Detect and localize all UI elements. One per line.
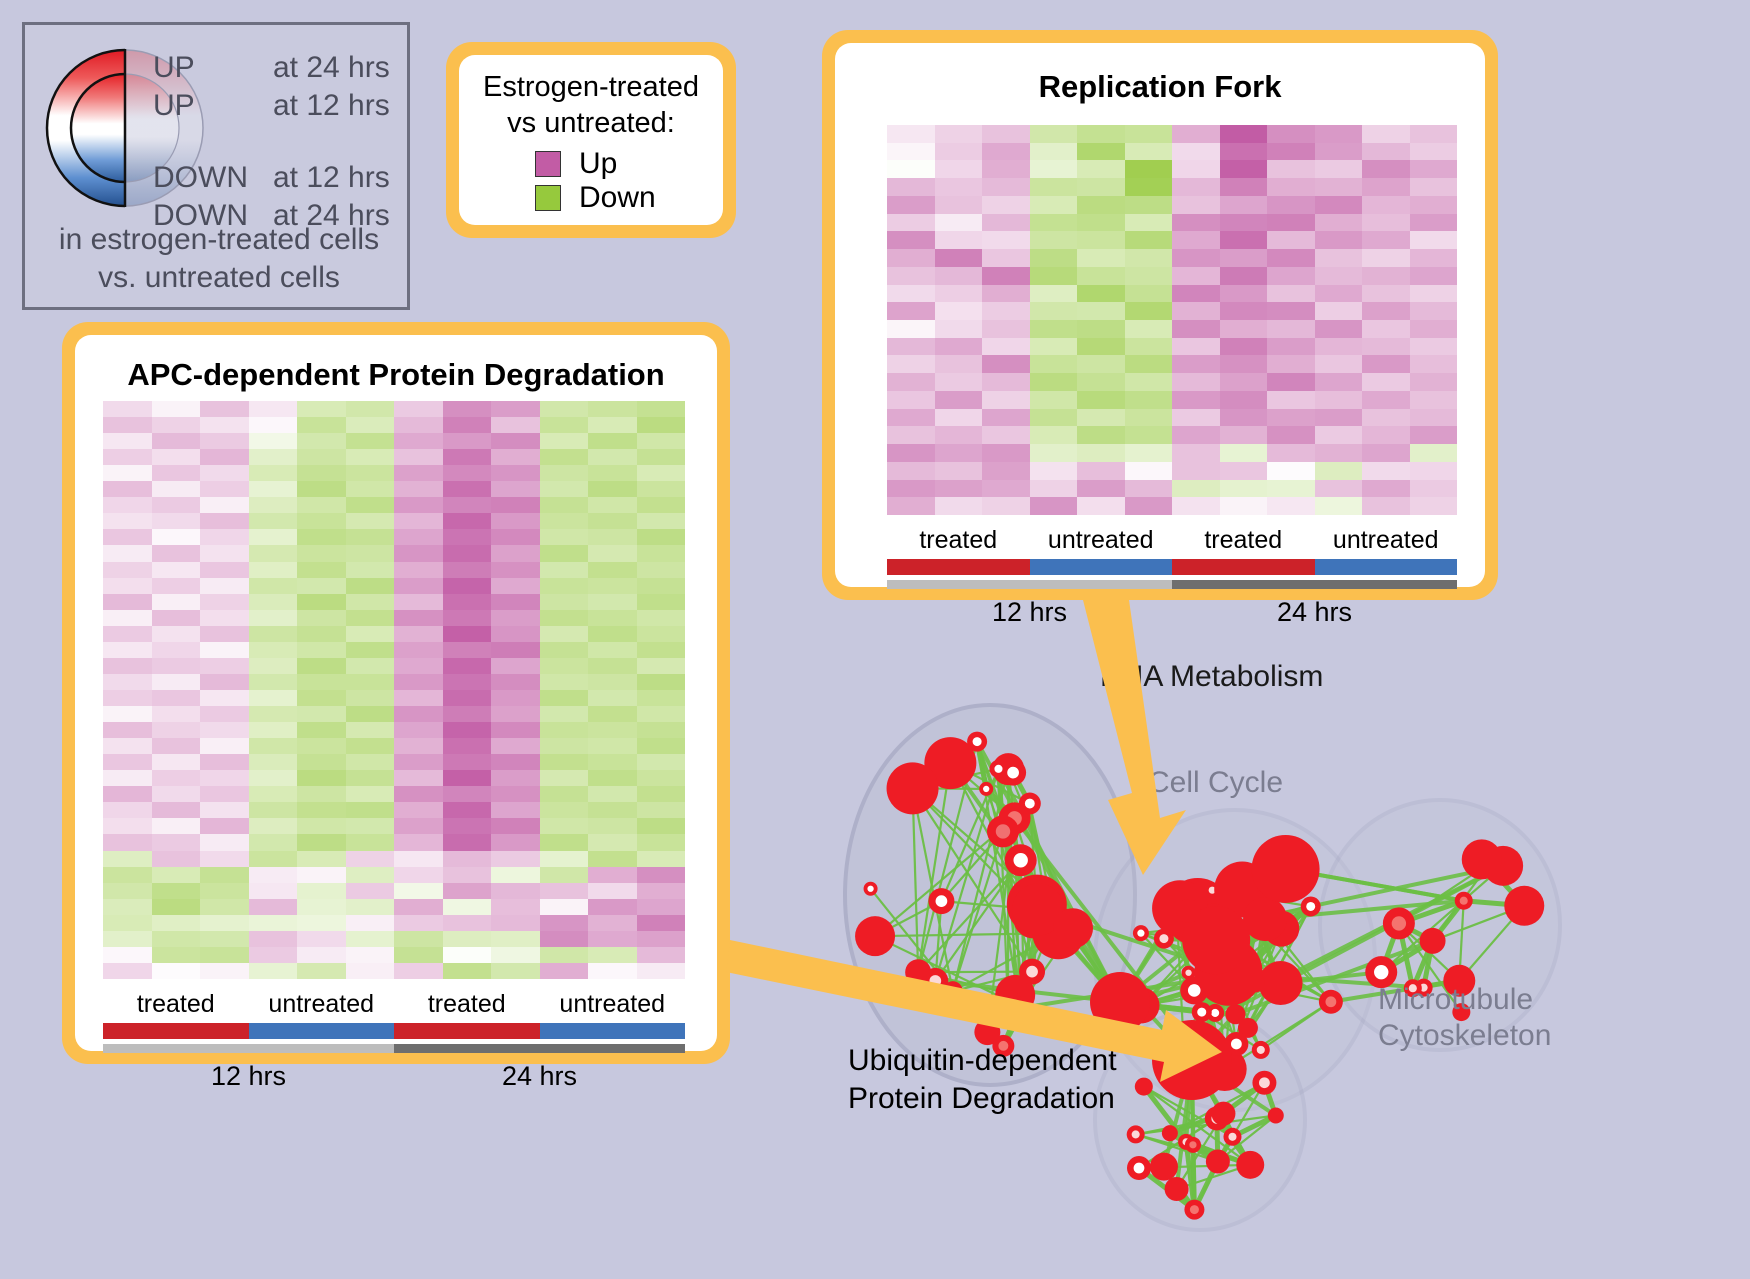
heatmap-cell [297,529,346,545]
heatmap-cell [1220,409,1268,427]
heatmap-cell [103,562,152,578]
heatmap-cell [1125,373,1173,391]
heatmap-cell [1220,480,1268,498]
heatmap-cell [588,481,637,497]
heatmap-cell [588,834,637,850]
heatmap-cell [588,786,637,802]
heatmap-cell [152,851,201,867]
heatmap-cell [152,867,201,883]
network-node-core [1259,1077,1270,1088]
timepoint-label: 12 hrs [887,589,1172,631]
heatmap-cell [346,626,395,642]
heatmap-cell [103,513,152,529]
heatmap-cell [1125,231,1173,249]
heatmap-cell [1220,391,1268,409]
heatmap-cell [443,706,492,722]
heatmap-cell [443,722,492,738]
heatmap-cell [200,497,249,513]
timepoint-label: 24 hrs [1172,589,1457,631]
heatmap-cell [346,417,395,433]
heatmap-cell [103,931,152,947]
heatmap-cell [1315,320,1363,338]
heatmap-cell [1315,444,1363,462]
heatmap-cell [1410,480,1458,498]
heatmap-cell [346,401,395,417]
heatmap-cell [637,899,686,915]
network-node [887,762,939,814]
heatmap-cell [200,899,249,915]
heatmap-cell [443,690,492,706]
heatmap-cell [443,931,492,947]
heatmap-cell [103,529,152,545]
heatmap-cell [1220,338,1268,356]
heatmap-cell [394,818,443,834]
heatmap-cell [1077,480,1125,498]
heatmap-cell [346,642,395,658]
heatmap-cell [200,658,249,674]
heatmap-cell [1410,302,1458,320]
heatmap-cell [1315,338,1363,356]
heatmap-cell [1077,444,1125,462]
heatmap-cell [1220,231,1268,249]
heatmap-cell [637,706,686,722]
timepoint-bar-segment [1172,580,1457,589]
heatmap-cell [346,610,395,626]
heatmap-cell [588,449,637,465]
heatmap-cell [1315,196,1363,214]
heatmap-cell [394,770,443,786]
heatmap-cell [1030,320,1078,338]
heatmap-cell [1362,160,1410,178]
heatmap-cell [491,545,540,561]
heatmap-cell [249,626,298,642]
heatmap-cell [491,562,540,578]
heatmap-cell [588,947,637,963]
heatmap-cell [588,818,637,834]
heatmap-cell [540,433,589,449]
heatmap-cell [1172,373,1220,391]
heatmap-cell [200,529,249,545]
heatmap-cell [443,497,492,513]
network-node [1252,835,1320,903]
heatmap-cell [1125,196,1173,214]
heatmap-cell [394,610,443,626]
heatmap-cell [394,867,443,883]
heatmap-cell [1410,409,1458,427]
heatmap-cell [152,770,201,786]
heatmap-cell [152,626,201,642]
heatmap-cell [540,947,589,963]
heatmap-cell [588,401,637,417]
network-node [1462,839,1502,879]
heatmap-cell [1077,196,1125,214]
network-node-core [983,786,989,792]
heatmap-cell [1030,125,1078,143]
heatmap-cell [1172,231,1220,249]
cluster-label-ubiquitin-protein-degradation: Ubiquitin-dependent Protein Degradation [848,1042,1117,1118]
heatmap-cell [346,786,395,802]
heatmap-cell [394,802,443,818]
heatmap-cell [394,545,443,561]
heatmap-cell [297,722,346,738]
network-node [1090,972,1150,1032]
heatmap-cell [200,883,249,899]
heatmap-cell [540,722,589,738]
heatmap-cell [1362,480,1410,498]
heatmap-cell [152,931,201,947]
heatmap-cell [1267,214,1315,232]
heatmap-cell [200,642,249,658]
heatmap-cell [1410,160,1458,178]
heatmap-cell [152,513,201,529]
heatmap-cell [394,497,443,513]
heatmap-cell [103,851,152,867]
heatmap-cell [152,883,201,899]
heatmap-cell [1267,320,1315,338]
heatmap-cell [394,947,443,963]
heatmap-cell [935,302,983,320]
heatmap-cell [1172,178,1220,196]
heatmap-cell [1362,178,1410,196]
heatmap-cell [249,674,298,690]
heatmap-cell [540,851,589,867]
heatmap-cell [1125,409,1173,427]
cluster-label-dna-metabolism: DNA Metabolism [1100,660,1323,694]
heatmap-cell [588,851,637,867]
heatmap-cell [1077,391,1125,409]
heatmap-cell [1315,391,1363,409]
heatmap-cell [152,754,201,770]
heatmap-cell [1315,373,1363,391]
heatmap-cell [935,426,983,444]
heatmap-cell [297,433,346,449]
heatmap-cell [588,529,637,545]
heatmap-cell [1267,426,1315,444]
heatmap-cell [887,320,935,338]
heatmap-cell [982,391,1030,409]
heatmap-cell [394,465,443,481]
heatmap-cell [588,417,637,433]
heatmap-cell [540,867,589,883]
heatmap-cell [1362,426,1410,444]
color-key-rows: UP at 24 hrs UP at 12 hrs DOWN at 12 hrs… [153,51,390,237]
heatmap-cell [103,497,152,513]
heatmap-cell [346,594,395,610]
condition-bar-segment [394,1023,540,1039]
heatmap-cell [200,481,249,497]
heatmap-cell [152,610,201,626]
heatmap-cell [491,915,540,931]
heatmap-cell [540,594,589,610]
apc-degradation-title: APC-dependent Protein Degradation [75,335,717,393]
heatmap-cell [491,674,540,690]
heatmap-cell [297,417,346,433]
heatmap-cell [588,963,637,979]
heatmap-cell [887,444,935,462]
heatmap-cell [982,125,1030,143]
heatmap-cell [637,513,686,529]
heatmap-cell [588,754,637,770]
heatmap-cell [1267,143,1315,161]
network-node [1176,899,1200,923]
heatmap-cell [1077,426,1125,444]
heatmap-cell [637,401,686,417]
heatmap-cell [1362,320,1410,338]
heatmap-cell [1172,267,1220,285]
heatmap-cell [1125,426,1173,444]
heatmap-cell [1410,497,1458,515]
heatmap-cell [346,433,395,449]
heatmap-cell [491,770,540,786]
heatmap-cell [297,497,346,513]
heatmap-cell [491,867,540,883]
heatmap-cell [443,867,492,883]
heatmap-cell [1220,160,1268,178]
heatmap-cell [935,143,983,161]
heatmap-cell [152,433,201,449]
heatmap-cell [394,562,443,578]
heatmap-cell [249,513,298,529]
legend-swatch-up-icon [535,151,561,177]
heatmap-cell [1077,125,1125,143]
heatmap-cell [935,497,983,515]
timepoint-labels: 12 hrs 24 hrs [887,589,1457,631]
heatmap-cell [394,626,443,642]
heatmap-cell [982,373,1030,391]
heatmap-cell [346,513,395,529]
heatmap-cell [1030,231,1078,249]
heatmap-cell [249,706,298,722]
heatmap-cell [249,722,298,738]
heatmap-cell [346,449,395,465]
heatmap-cell [200,915,249,931]
network-node-core [1188,984,1201,997]
heatmap-cell [1267,355,1315,373]
heatmap-cell [935,249,983,267]
heatmap-cell [588,433,637,449]
heatmap-cell [1220,125,1268,143]
apc-degradation-panel: APC-dependent Protein Degradation treate… [62,322,730,1064]
heatmap-cell [297,658,346,674]
network-node-core [1007,767,1019,779]
condition-label: untreated [249,987,395,1021]
network-node [1504,886,1544,926]
legend-items: Up Down [459,147,723,215]
heatmap-cell [491,899,540,915]
heatmap-cell [1172,249,1220,267]
heatmap-cell [1125,444,1173,462]
heatmap-cell [103,674,152,690]
heatmap-cell [443,545,492,561]
condition-bar-segment [540,1023,686,1039]
network-node [1162,1125,1178,1141]
timepoint-color-bar [887,580,1457,589]
heatmap-cell [249,449,298,465]
network-node-core [973,737,982,746]
heatmap-cell [200,802,249,818]
heatmap-cell [103,883,152,899]
heatmap-cell [103,610,152,626]
heatmap-cell [103,578,152,594]
color-key-row: UP at 12 hrs [153,89,390,127]
heatmap-cell [1267,444,1315,462]
heatmap-cell [935,409,983,427]
heatmap-cell [346,931,395,947]
heatmap-cell [346,658,395,674]
heatmap-cell [346,883,395,899]
heatmap-cell [491,722,540,738]
heatmap-cell [1362,214,1410,232]
heatmap-cell [1077,373,1125,391]
network-node-core [929,975,941,987]
heatmap-cell [637,433,686,449]
heatmap-cell [1030,196,1078,214]
heatmap-cell [1410,249,1458,267]
heatmap-cell [637,738,686,754]
heatmap-cell [491,834,540,850]
heatmap-cell [1362,143,1410,161]
heatmap-cell [443,449,492,465]
heatmap-cell [540,786,589,802]
heatmap-cell [887,160,935,178]
heatmap-cell [982,338,1030,356]
condition-bar-segment [1172,559,1315,575]
heatmap-cell [491,642,540,658]
network-node-core [1231,1039,1242,1050]
heatmap-cell [637,690,686,706]
heatmap-cell [1030,267,1078,285]
heatmap-cell [443,947,492,963]
heatmap-cell [249,658,298,674]
heatmap-cell [297,867,346,883]
heatmap-cell [152,738,201,754]
heatmap-cell [637,449,686,465]
heatmap-cell [1315,497,1363,515]
heatmap-cell [1267,409,1315,427]
heatmap-cell [249,529,298,545]
heatmap-cell [1077,231,1125,249]
heatmap-cell [588,867,637,883]
heatmap-cell [200,786,249,802]
heatmap-cell [1172,444,1220,462]
heatmap-cell [297,578,346,594]
heatmap-cell [1410,355,1458,373]
heatmap-cell [297,738,346,754]
heatmap-cell [103,433,152,449]
heatmap-cell [103,867,152,883]
network-node-core [1211,1009,1219,1017]
heatmap-cell [152,578,201,594]
heatmap-cell [103,594,152,610]
condition-labels: treated untreated treated untreated [103,987,685,1021]
heatmap-cell [346,963,395,979]
heatmap-cell [152,802,201,818]
heatmap-cell [249,899,298,915]
heatmap-cell [540,562,589,578]
condition-color-bar [887,559,1457,575]
heatmap-cell [1267,285,1315,303]
heatmap-cell [1315,143,1363,161]
heatmap-cell [249,834,298,850]
network-node-core [1197,1008,1206,1017]
heatmap-cell [443,529,492,545]
heatmap-cell [887,497,935,515]
heatmap-cell [249,754,298,770]
timepoint-label: 24 hrs [394,1053,685,1095]
heatmap-cell [249,401,298,417]
heatmap-cell [249,594,298,610]
heatmap-cell [491,626,540,642]
heatmap-cell [540,626,589,642]
condition-bar-segment [103,1023,249,1039]
color-key-row: UP at 24 hrs [153,51,390,89]
heatmap-cell [1125,497,1173,515]
heatmap-cell [152,545,201,561]
heatmap-cell [1220,373,1268,391]
heatmap-cell [443,915,492,931]
heatmap-cell [1077,178,1125,196]
heatmap-cell [152,594,201,610]
heatmap-cell [152,465,201,481]
heatmap-cell [1172,480,1220,498]
heatmap-cell [1030,391,1078,409]
heatmap-cell [1172,320,1220,338]
heatmap-cell [1220,444,1268,462]
heatmap-cell [297,465,346,481]
heatmap-cell [200,754,249,770]
heatmap-cell [491,401,540,417]
heatmap-cell [637,770,686,786]
heatmap-cell [540,610,589,626]
heatmap-cell [637,851,686,867]
heatmap-cell [1410,214,1458,232]
heatmap-cell [540,529,589,545]
heatmap-cell [1410,285,1458,303]
heatmap-cell [297,915,346,931]
heatmap-cell [1172,302,1220,320]
heatmap-cell [249,786,298,802]
heatmap-cell [1172,391,1220,409]
heatmap-cell [1315,178,1363,196]
timepoint-color-bar [103,1044,685,1053]
heatmap-cell [1125,355,1173,373]
network-node-core [867,886,873,892]
heatmap-cell [346,465,395,481]
timepoint-label: 12 hrs [103,1053,394,1095]
network-node [855,916,895,956]
heatmap-cell [394,578,443,594]
heatmap-cell [982,178,1030,196]
heatmap-cell [637,754,686,770]
heatmap-cell [1362,391,1410,409]
heatmap-cell [637,545,686,561]
heatmap-cell [394,433,443,449]
heatmap-cell [394,658,443,674]
heatmap-cell [1267,125,1315,143]
heatmap-cell [297,834,346,850]
condition-color-bar [103,1023,685,1039]
heatmap-cell [982,285,1030,303]
heatmap-cell [491,465,540,481]
heatmap-cell [1125,249,1173,267]
heatmap-cell [394,529,443,545]
heatmap-cell [1362,355,1410,373]
network-node [1420,928,1446,954]
heatmap-cell [200,690,249,706]
heatmap-cell [443,674,492,690]
heatmap-cell [637,786,686,802]
heatmap-cell [887,267,935,285]
